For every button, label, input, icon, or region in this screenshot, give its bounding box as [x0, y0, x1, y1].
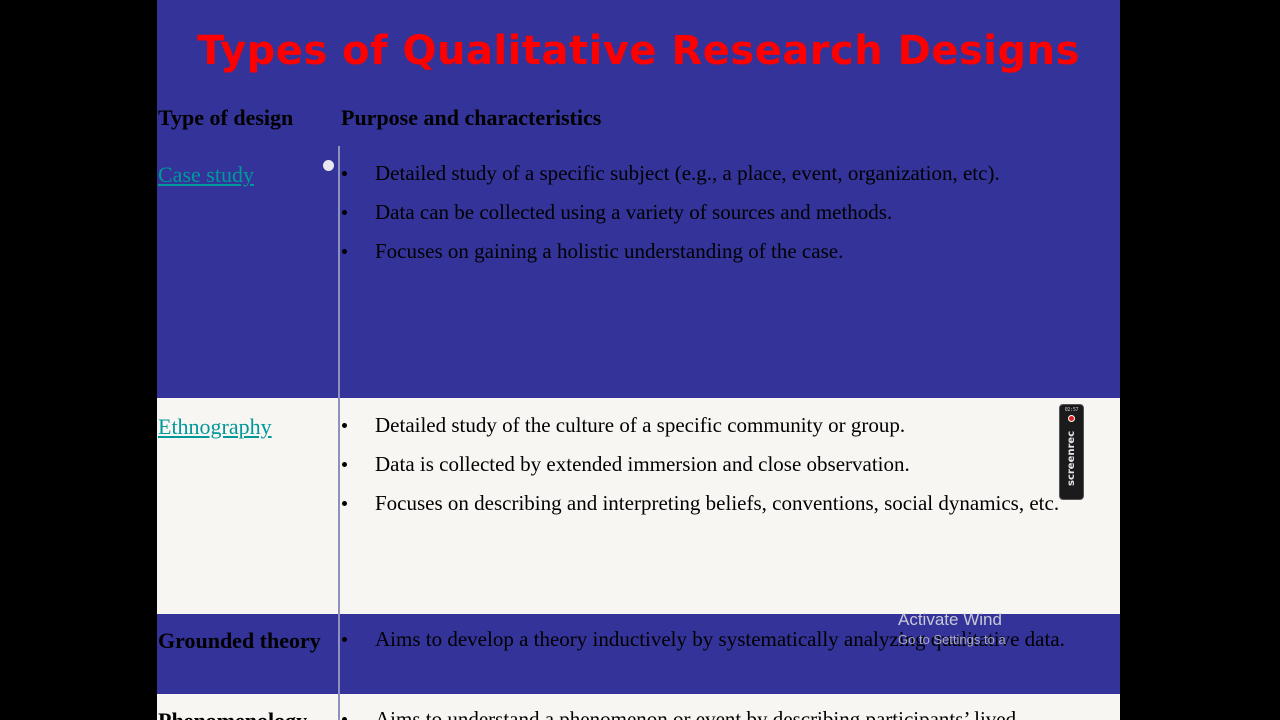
table-row: Phenomenology Aims to understand a pheno… — [157, 694, 1120, 720]
row-points-cell: Aims to develop a theory inductively by … — [338, 620, 1120, 665]
bullet-text: Data can be collected using a variety of… — [375, 200, 892, 224]
row-design-cell: Ethnography — [157, 406, 338, 440]
design-link-case-study[interactable]: Case study — [158, 154, 254, 188]
column-header-purpose: Purpose and characteristics — [340, 105, 601, 130]
list-item: Data can be collected using a variety of… — [340, 199, 1120, 226]
list-item: Detailed study of the culture of a speci… — [340, 412, 1120, 439]
mouse-cursor — [323, 160, 334, 171]
list-item: Data is collected by extended immersion … — [340, 451, 1120, 478]
design-label-grounded-theory: Grounded theory — [158, 620, 321, 654]
bullet-text: Detailed study of the culture of a speci… — [375, 413, 905, 437]
page-title: Types of Qualitative Research Designs — [157, 28, 1120, 74]
table-row: Grounded theory Aims to develop a theory… — [157, 614, 1120, 694]
bullet-dot-icon — [342, 501, 347, 506]
list-item: Aims to develop a theory inductively by … — [340, 626, 1120, 653]
bullet-list: Aims to understand a phenomenon or event… — [340, 706, 1120, 720]
list-item: Aims to understand a phenomenon or event… — [340, 706, 1120, 720]
record-dot-icon[interactable] — [1068, 415, 1075, 422]
bullet-list: Detailed study of a specific subject (e.… — [340, 160, 1120, 265]
recording-timer: 02:57 — [1060, 405, 1083, 413]
header-cell-purpose: Purpose and characteristics — [338, 105, 1120, 131]
bullet-text: Aims to develop a theory inductively by … — [375, 627, 1065, 651]
bullet-dot-icon — [342, 249, 347, 254]
design-label-phenomenology: Phenomenology — [158, 700, 307, 720]
bullet-dot-icon — [342, 637, 347, 642]
bullet-dot-icon — [342, 171, 347, 176]
list-item: Detailed study of a specific subject (e.… — [340, 160, 1120, 187]
design-link-ethnography[interactable]: Ethnography — [158, 406, 272, 440]
bullet-dot-icon — [342, 423, 347, 428]
header-cell-type: Type of design — [157, 105, 338, 131]
row-design-cell: Phenomenology — [157, 700, 338, 720]
bullet-list: Detailed study of the culture of a speci… — [340, 412, 1120, 517]
table-header-row: Type of design Purpose and characteristi… — [157, 105, 1120, 146]
row-points-cell: Detailed study of the culture of a speci… — [338, 406, 1120, 529]
row-design-cell: Case study — [157, 154, 338, 188]
row-points-cell: Detailed study of a specific subject (e.… — [338, 154, 1120, 277]
bullet-text: Detailed study of a specific subject (e.… — [375, 161, 1000, 185]
bullet-dot-icon — [342, 462, 347, 467]
bullet-text: Focuses on gaining a holistic understand… — [375, 239, 843, 263]
bullet-text: Focuses on describing and interpreting b… — [375, 491, 1059, 515]
table-row: Case study Detailed study of a specific … — [157, 146, 1120, 398]
bullet-text: Aims to understand a phenomenon or event… — [375, 707, 1016, 720]
designs-table: Type of design Purpose and characteristi… — [157, 105, 1120, 720]
list-item: Focuses on gaining a holistic understand… — [340, 238, 1120, 265]
row-points-cell: Aims to understand a phenomenon or event… — [338, 700, 1120, 720]
table-row: Ethnography Detailed study of the cultur… — [157, 398, 1120, 614]
screenrec-label: screenrec — [1066, 426, 1077, 490]
bullet-text: Data is collected by extended immersion … — [375, 452, 910, 476]
presentation-slide: Types of Qualitative Research Designs Ty… — [157, 0, 1120, 720]
row-design-cell: Grounded theory — [157, 620, 338, 654]
screen: Types of Qualitative Research Designs Ty… — [0, 0, 1280, 720]
screenrec-widget[interactable]: 02:57 screenrec — [1059, 404, 1084, 500]
bullet-dot-icon — [342, 210, 347, 215]
column-header-type: Type of design — [158, 105, 293, 130]
list-item: Focuses on describing and interpreting b… — [340, 490, 1120, 517]
bullet-list: Aims to develop a theory inductively by … — [340, 626, 1120, 653]
